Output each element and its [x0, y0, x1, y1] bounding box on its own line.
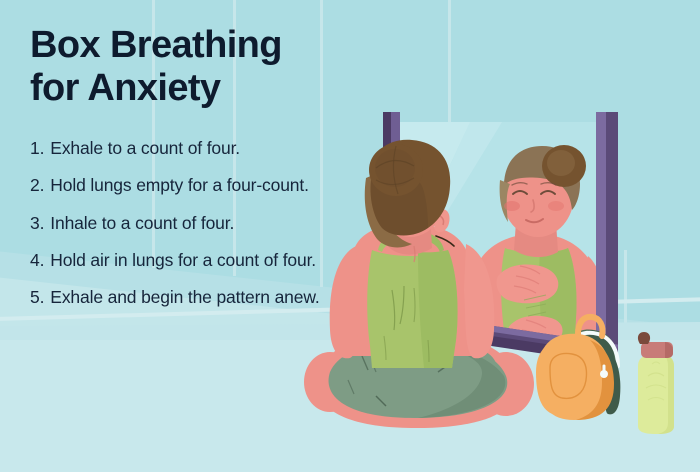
- list-item: 2. Hold lungs empty for a four-count.: [30, 175, 352, 196]
- list-item: 1. Exhale to a count of four.: [30, 138, 352, 159]
- step-text: Exhale to a count of four.: [50, 138, 352, 159]
- step-number: 3.: [30, 213, 50, 234]
- list-item: 4. Hold air in lungs for a count of four…: [30, 250, 352, 271]
- infographic-canvas: Box Breathing for Anxiety 1. Exhale to a…: [0, 0, 700, 472]
- list-item: 5. Exhale and begin the pattern anew.: [30, 287, 352, 308]
- page-title-line-1: Box Breathing: [30, 24, 360, 67]
- step-number: 5.: [30, 287, 50, 308]
- mirror-frame-left-highlight: [391, 112, 400, 344]
- step-text: Inhale to a count of four.: [50, 213, 352, 234]
- step-text: Hold air in lungs for a count of four.: [50, 250, 352, 271]
- mirror-frame-right-highlight: [596, 112, 606, 357]
- step-number: 4.: [30, 250, 50, 271]
- step-text: Hold lungs empty for a four-count.: [50, 175, 352, 196]
- page-title-line-2: for Anxiety: [30, 67, 360, 110]
- step-number: 2.: [30, 175, 50, 196]
- page-title: Box Breathing for Anxiety: [30, 24, 360, 110]
- step-number: 1.: [30, 138, 50, 159]
- mirror-glass: [392, 122, 610, 344]
- steps-list: 1. Exhale to a count of four. 2. Hold lu…: [30, 138, 352, 325]
- list-item: 3. Inhale to a count of four.: [30, 213, 352, 234]
- step-text: Exhale and begin the pattern anew.: [50, 287, 352, 308]
